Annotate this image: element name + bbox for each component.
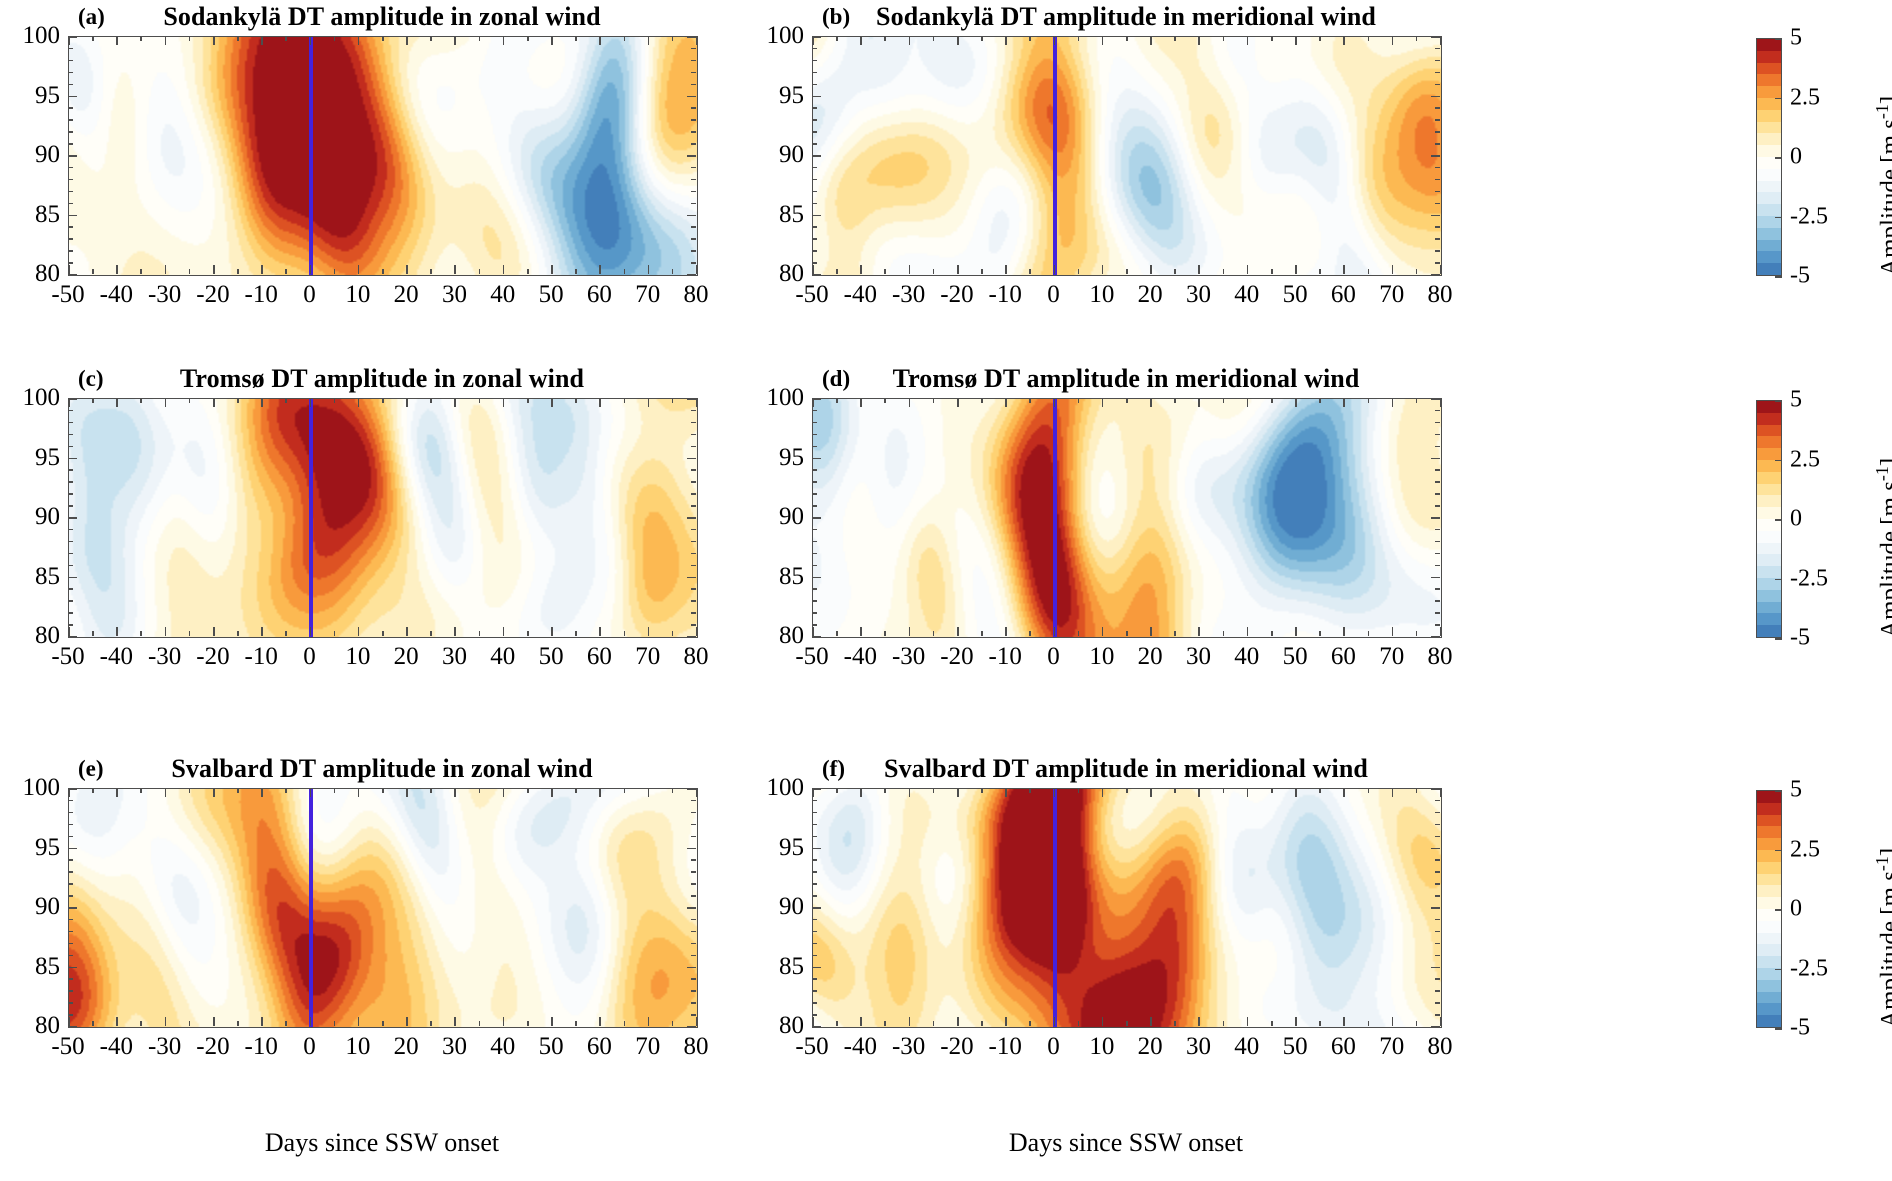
y-tick-b — [1435, 250, 1440, 252]
x-tick-a — [310, 36, 312, 45]
y-tick-c — [68, 541, 73, 543]
x-tick-e — [213, 788, 215, 797]
x-tick-label-c: 60 — [587, 643, 612, 671]
x-tick-f — [1368, 1021, 1370, 1026]
panel-title-d: Tromsø DT amplitude in meridional wind — [812, 364, 1440, 394]
x-tick-f — [1440, 788, 1442, 797]
x-tick-b — [1392, 36, 1394, 45]
colorbar-level — [1757, 86, 1781, 98]
x-axis-title-col1: Days since SSW onset — [1009, 1128, 1243, 1158]
y-tick-d — [1435, 434, 1440, 436]
heatmap-contour-d — [813, 399, 1441, 637]
x-tick-label-a: -30 — [148, 281, 181, 309]
x-tick-a — [68, 265, 70, 274]
y-tick-f — [1435, 931, 1440, 933]
colorbar-level — [1757, 436, 1781, 448]
colorbar-level — [1757, 566, 1781, 578]
y-tick-a — [68, 203, 73, 205]
colorbar-level — [1757, 227, 1781, 239]
colorbar-level — [1757, 601, 1781, 613]
y-tick-f — [1435, 1014, 1440, 1016]
x-tick-a — [648, 36, 650, 45]
y-tick-label-d: 85 — [748, 563, 804, 591]
y-tick-a — [687, 155, 696, 157]
colorbar-level — [1757, 400, 1781, 412]
y-tick-f — [1435, 990, 1440, 992]
y-tick-d — [812, 636, 821, 638]
x-tick-f — [957, 1017, 959, 1026]
x-tick-a — [430, 269, 432, 274]
y-tick-d — [812, 446, 817, 448]
y-tick-b — [1435, 60, 1440, 62]
y-tick-d — [812, 577, 821, 579]
x-tick-a — [454, 36, 456, 45]
x-tick-label-a: 30 — [442, 281, 467, 309]
plot-area-b[interactable] — [812, 36, 1442, 276]
x-tick-e — [696, 1017, 698, 1026]
x-tick-label-d: 30 — [1186, 643, 1211, 671]
x-tick-label-e: -20 — [196, 1033, 229, 1061]
x-tick-c — [503, 627, 505, 636]
y-tick-a — [691, 167, 696, 169]
x-tick-b — [909, 265, 911, 274]
x-tick-e — [672, 1021, 674, 1026]
y-tick-label-d: 90 — [748, 503, 804, 531]
y-tick-label-a: 100 — [4, 22, 60, 50]
x-tick-e — [648, 788, 650, 797]
x-tick-e — [237, 1021, 239, 1026]
x-tick-e — [406, 1017, 408, 1026]
y-tick-f — [812, 955, 817, 957]
y-tick-d — [812, 458, 821, 460]
x-tick-b — [1295, 265, 1297, 274]
x-tick-label-b: -40 — [844, 281, 877, 309]
x-tick-b — [1126, 36, 1128, 41]
x-tick-a — [648, 265, 650, 274]
colorbar-level — [1757, 613, 1781, 625]
plot-area-c[interactable] — [68, 398, 698, 638]
y-tick-a — [68, 96, 77, 98]
x-tick-e — [237, 788, 239, 793]
x-tick-label-b: -30 — [892, 281, 925, 309]
x-tick-c — [672, 631, 674, 636]
colorbar-tick — [1775, 1028, 1782, 1030]
x-tick-b — [1271, 36, 1273, 41]
y-tick-f — [1431, 907, 1440, 909]
x-tick-a — [285, 269, 287, 274]
x-tick-c — [696, 627, 698, 636]
x-tick-f — [957, 788, 959, 797]
y-tick-c — [68, 458, 77, 460]
colorbar-tick-label: 5 — [1790, 777, 1802, 804]
x-tick-e — [140, 1021, 142, 1026]
x-tick-f — [1343, 788, 1345, 797]
y-tick-a — [68, 36, 77, 38]
y-tick-d — [1435, 493, 1440, 495]
y-tick-a — [68, 48, 73, 50]
x-tick-label-b: 60 — [1331, 281, 1356, 309]
x-tick-b — [933, 269, 935, 274]
x-tick-f — [1198, 1017, 1200, 1026]
colorbar-row-0: -5-2.502.55Amplitude [m s-1] — [1756, 38, 1782, 276]
y-tick-e — [687, 788, 696, 790]
x-tick-e — [92, 788, 94, 793]
y-tick-b — [1435, 226, 1440, 228]
y-tick-label-b: 90 — [748, 141, 804, 169]
x-tick-e — [430, 1021, 432, 1026]
x-tick-c — [648, 398, 650, 407]
x-tick-f — [836, 1021, 838, 1026]
x-tick-f — [1247, 1017, 1249, 1026]
x-tick-e — [527, 788, 529, 793]
colorbar-title-tail: ] — [1876, 848, 1892, 856]
x-tick-label-a: 40 — [490, 281, 515, 309]
x-tick-label-a: 70 — [635, 281, 660, 309]
x-tick-label-a: 60 — [587, 281, 612, 309]
x-tick-c — [237, 398, 239, 403]
x-tick-f — [860, 1017, 862, 1026]
x-tick-f — [860, 788, 862, 797]
y-tick-c — [691, 588, 696, 590]
colorbar-tick — [1775, 38, 1782, 40]
y-tick-a — [68, 72, 73, 74]
x-tick-label-c: -40 — [100, 643, 133, 671]
x-tick-label-d: -40 — [844, 643, 877, 671]
y-tick-e — [691, 955, 696, 957]
y-tick-d — [812, 493, 817, 495]
panel-d: (d)Tromsø DT amplitude in meridional win… — [750, 364, 1498, 712]
colorbar-level — [1757, 589, 1781, 601]
colorbar-tick — [1775, 400, 1782, 402]
colorbar-level — [1757, 180, 1781, 192]
y-tick-c — [691, 553, 696, 555]
ssw-onset-line-b — [1053, 37, 1057, 275]
colorbar-tick — [1775, 519, 1782, 521]
y-tick-label-d: 80 — [748, 622, 804, 650]
y-tick-c — [68, 505, 73, 507]
colorbar-title-main: Amplitude [m s — [1876, 871, 1892, 1028]
y-tick-label-c: 80 — [4, 622, 60, 650]
x-tick-f — [1150, 1017, 1152, 1026]
x-tick-b — [836, 269, 838, 274]
x-tick-label-b: 10 — [1089, 281, 1114, 309]
x-tick-a — [165, 36, 167, 45]
x-tick-e — [430, 788, 432, 793]
y-tick-label-f: 90 — [748, 893, 804, 921]
heatmap-contour-a — [69, 37, 697, 275]
x-tick-label-a: 10 — [345, 281, 370, 309]
x-tick-e — [382, 788, 384, 793]
x-tick-label-e: 40 — [490, 1033, 515, 1061]
x-tick-label-d: 70 — [1379, 643, 1404, 671]
y-tick-c — [687, 458, 696, 460]
x-tick-d — [1440, 627, 1442, 636]
y-tick-f — [1431, 967, 1440, 969]
x-tick-a — [624, 36, 626, 41]
y-tick-d — [812, 398, 821, 400]
heatmap-contour-b — [813, 37, 1441, 275]
colorbar-level — [1757, 625, 1781, 637]
x-tick-e — [503, 788, 505, 797]
plot-area-e[interactable] — [68, 788, 698, 1028]
x-tick-e — [503, 1017, 505, 1026]
x-tick-e — [382, 1021, 384, 1026]
y-tick-e — [691, 895, 696, 897]
colorbar-row-1: -5-2.502.55Amplitude [m s-1] — [1756, 400, 1782, 638]
y-tick-c — [68, 600, 73, 602]
x-tick-f — [1102, 1017, 1104, 1026]
x-tick-c — [261, 627, 263, 636]
x-tick-c — [92, 398, 94, 403]
colorbar-level — [1757, 861, 1781, 873]
colorbar-title-exponent: -1 — [1872, 466, 1892, 481]
x-tick-b — [1005, 36, 1007, 45]
y-tick-e — [691, 943, 696, 945]
y-tick-b — [812, 226, 817, 228]
colorbar-axis-title: Amplitude [m s-1] — [1872, 96, 1892, 276]
x-tick-b — [981, 269, 983, 274]
y-tick-d — [1435, 529, 1440, 531]
x-tick-f — [1005, 788, 1007, 797]
x-tick-b — [1247, 265, 1249, 274]
x-tick-a — [624, 269, 626, 274]
y-tick-e — [687, 1026, 696, 1028]
y-tick-f — [1435, 955, 1440, 957]
x-tick-d — [1150, 627, 1152, 636]
y-tick-b — [1435, 203, 1440, 205]
colorbar-level — [1757, 204, 1781, 216]
y-tick-a — [691, 72, 696, 74]
panel-title-c: Tromsø DT amplitude in zonal wind — [68, 364, 696, 394]
x-tick-label-a: 0 — [303, 281, 316, 309]
y-tick-b — [812, 48, 817, 50]
x-tick-a — [189, 36, 191, 41]
x-tick-a — [116, 36, 118, 45]
x-tick-d — [1078, 631, 1080, 636]
colorbar-level — [1757, 38, 1781, 50]
colorbar-level — [1757, 542, 1781, 554]
colorbar-tick — [1775, 276, 1782, 278]
y-tick-a — [691, 179, 696, 181]
x-tick-label-d: 20 — [1138, 643, 1163, 671]
colorbar-level — [1757, 97, 1781, 109]
y-tick-b — [812, 274, 821, 276]
x-tick-label-b: -10 — [989, 281, 1022, 309]
panel-f: (f)Svalbard DT amplitude in meridional w… — [750, 754, 1498, 1102]
x-tick-b — [1126, 269, 1128, 274]
x-tick-a — [672, 269, 674, 274]
colorbar-tick — [1775, 98, 1782, 100]
y-tick-d — [1435, 588, 1440, 590]
y-tick-a — [68, 179, 73, 181]
x-tick-label-c: -10 — [245, 643, 278, 671]
colorbar-level — [1757, 944, 1781, 956]
y-tick-d — [1431, 636, 1440, 638]
x-tick-c — [165, 627, 167, 636]
colorbar-level — [1757, 412, 1781, 424]
colorbar-title-exponent: -1 — [1872, 856, 1892, 871]
x-tick-b — [1054, 265, 1056, 274]
colorbar-level — [1757, 507, 1781, 519]
x-tick-d — [1005, 627, 1007, 636]
x-tick-d — [933, 631, 935, 636]
y-tick-e — [68, 836, 73, 838]
x-tick-label-e: -30 — [148, 1033, 181, 1061]
x-tick-b — [1223, 36, 1225, 41]
x-tick-label-c: 10 — [345, 643, 370, 671]
x-tick-b — [860, 36, 862, 45]
x-tick-label-c: 50 — [539, 643, 564, 671]
x-tick-c — [189, 398, 191, 403]
y-tick-f — [1435, 859, 1440, 861]
x-tick-label-c: 30 — [442, 643, 467, 671]
x-tick-a — [696, 265, 698, 274]
x-tick-b — [1247, 36, 1249, 45]
colorbar-tick — [1775, 909, 1782, 911]
x-tick-label-f: 50 — [1283, 1033, 1308, 1061]
x-tick-d — [1174, 398, 1176, 403]
x-tick-e — [406, 788, 408, 797]
y-tick-b — [812, 60, 817, 62]
x-tick-b — [884, 269, 886, 274]
x-tick-b — [1150, 265, 1152, 274]
y-tick-a — [687, 96, 696, 98]
y-tick-a — [687, 215, 696, 217]
x-tick-f — [1368, 788, 1370, 793]
x-tick-e — [575, 1021, 577, 1026]
x-tick-a — [358, 36, 360, 45]
x-tick-c — [624, 631, 626, 636]
x-tick-a — [503, 36, 505, 45]
x-tick-c — [551, 627, 553, 636]
y-tick-e — [687, 848, 696, 850]
x-tick-d — [1368, 631, 1370, 636]
x-tick-d — [1150, 398, 1152, 407]
x-tick-label-f: 20 — [1138, 1033, 1163, 1061]
x-tick-d — [1343, 398, 1345, 407]
y-tick-d — [1435, 505, 1440, 507]
colorbar-tick — [1775, 850, 1782, 852]
x-tick-a — [140, 36, 142, 41]
colorbar-level — [1757, 802, 1781, 814]
x-tick-label-e: 10 — [345, 1033, 370, 1061]
colorbar-axis-title: Amplitude [m s-1] — [1872, 848, 1892, 1028]
x-tick-a — [334, 36, 336, 41]
colorbar-level — [1757, 838, 1781, 850]
x-tick-label-c: 20 — [394, 643, 419, 671]
x-tick-b — [836, 36, 838, 41]
y-tick-label-d: 100 — [748, 384, 804, 412]
x-tick-e — [310, 788, 312, 797]
y-tick-c — [68, 612, 73, 614]
x-tick-e — [696, 788, 698, 797]
y-tick-c — [691, 529, 696, 531]
x-tick-c — [406, 627, 408, 636]
x-tick-a — [406, 265, 408, 274]
x-tick-e — [575, 788, 577, 793]
colorbar-level — [1757, 448, 1781, 460]
y-tick-f — [812, 1014, 817, 1016]
colorbar-tick — [1775, 579, 1782, 581]
x-tick-a — [92, 36, 94, 41]
x-tick-d — [909, 627, 911, 636]
y-tick-d — [812, 469, 817, 471]
colorbar-title-main: Amplitude [m s — [1876, 119, 1892, 276]
x-tick-e — [551, 788, 553, 797]
y-tick-d — [1435, 553, 1440, 555]
y-tick-b — [1435, 119, 1440, 121]
x-tick-b — [1029, 36, 1031, 41]
x-tick-label-d: 60 — [1331, 643, 1356, 671]
y-tick-a — [68, 274, 77, 276]
plot-area-f[interactable] — [812, 788, 1442, 1028]
x-tick-a — [454, 265, 456, 274]
y-tick-label-c: 90 — [4, 503, 60, 531]
plot-area-a[interactable] — [68, 36, 698, 276]
x-tick-d — [836, 398, 838, 403]
x-tick-e — [213, 1017, 215, 1026]
colorbar-tick-label: 2.5 — [1790, 446, 1820, 473]
y-tick-e — [68, 1014, 73, 1016]
y-tick-b — [812, 250, 817, 252]
x-tick-c — [213, 398, 215, 407]
y-tick-b — [1435, 143, 1440, 145]
y-tick-a — [691, 131, 696, 133]
y-tick-d — [1435, 600, 1440, 602]
ssw-onset-line-f — [1053, 789, 1057, 1027]
x-tick-b — [1343, 36, 1345, 45]
colorbar-level — [1757, 74, 1781, 86]
x-tick-label-b: 70 — [1379, 281, 1404, 309]
x-tick-b — [812, 265, 814, 274]
x-tick-label-a: -20 — [196, 281, 229, 309]
x-tick-label-b: 80 — [1428, 281, 1453, 309]
x-tick-c — [68, 627, 70, 636]
x-tick-c — [624, 398, 626, 403]
plot-area-d[interactable] — [812, 398, 1442, 638]
x-tick-f — [1054, 1017, 1056, 1026]
x-tick-a — [237, 269, 239, 274]
colorbar-title-tail: ] — [1876, 458, 1892, 466]
colorbar-level — [1757, 109, 1781, 121]
y-tick-e — [691, 919, 696, 921]
x-tick-d — [1174, 631, 1176, 636]
y-tick-label-a: 80 — [4, 260, 60, 288]
x-tick-a — [285, 36, 287, 41]
x-tick-label-e: 50 — [539, 1033, 564, 1061]
x-tick-label-e: 0 — [303, 1033, 316, 1061]
x-tick-b — [1319, 36, 1321, 41]
panel-e: (e)Svalbard DT amplitude in zonal wind-5… — [6, 754, 754, 1102]
y-tick-e — [68, 967, 77, 969]
x-tick-a — [358, 265, 360, 274]
y-tick-e — [68, 943, 73, 945]
x-tick-c — [92, 631, 94, 636]
ssw-onset-line-d — [1053, 399, 1057, 637]
x-tick-b — [1102, 36, 1104, 45]
x-tick-f — [1319, 1021, 1321, 1026]
x-tick-d — [1343, 627, 1345, 636]
y-tick-d — [812, 434, 817, 436]
x-tick-f — [884, 1021, 886, 1026]
colorbar-level — [1757, 826, 1781, 838]
y-tick-d — [1435, 612, 1440, 614]
y-tick-d — [812, 481, 817, 483]
x-tick-label-f: 0 — [1047, 1033, 1060, 1061]
x-tick-label-f: 10 — [1089, 1033, 1114, 1061]
y-tick-label-b: 100 — [748, 22, 804, 50]
panel-c: (c)Tromsø DT amplitude in zonal wind-50-… — [6, 364, 754, 712]
